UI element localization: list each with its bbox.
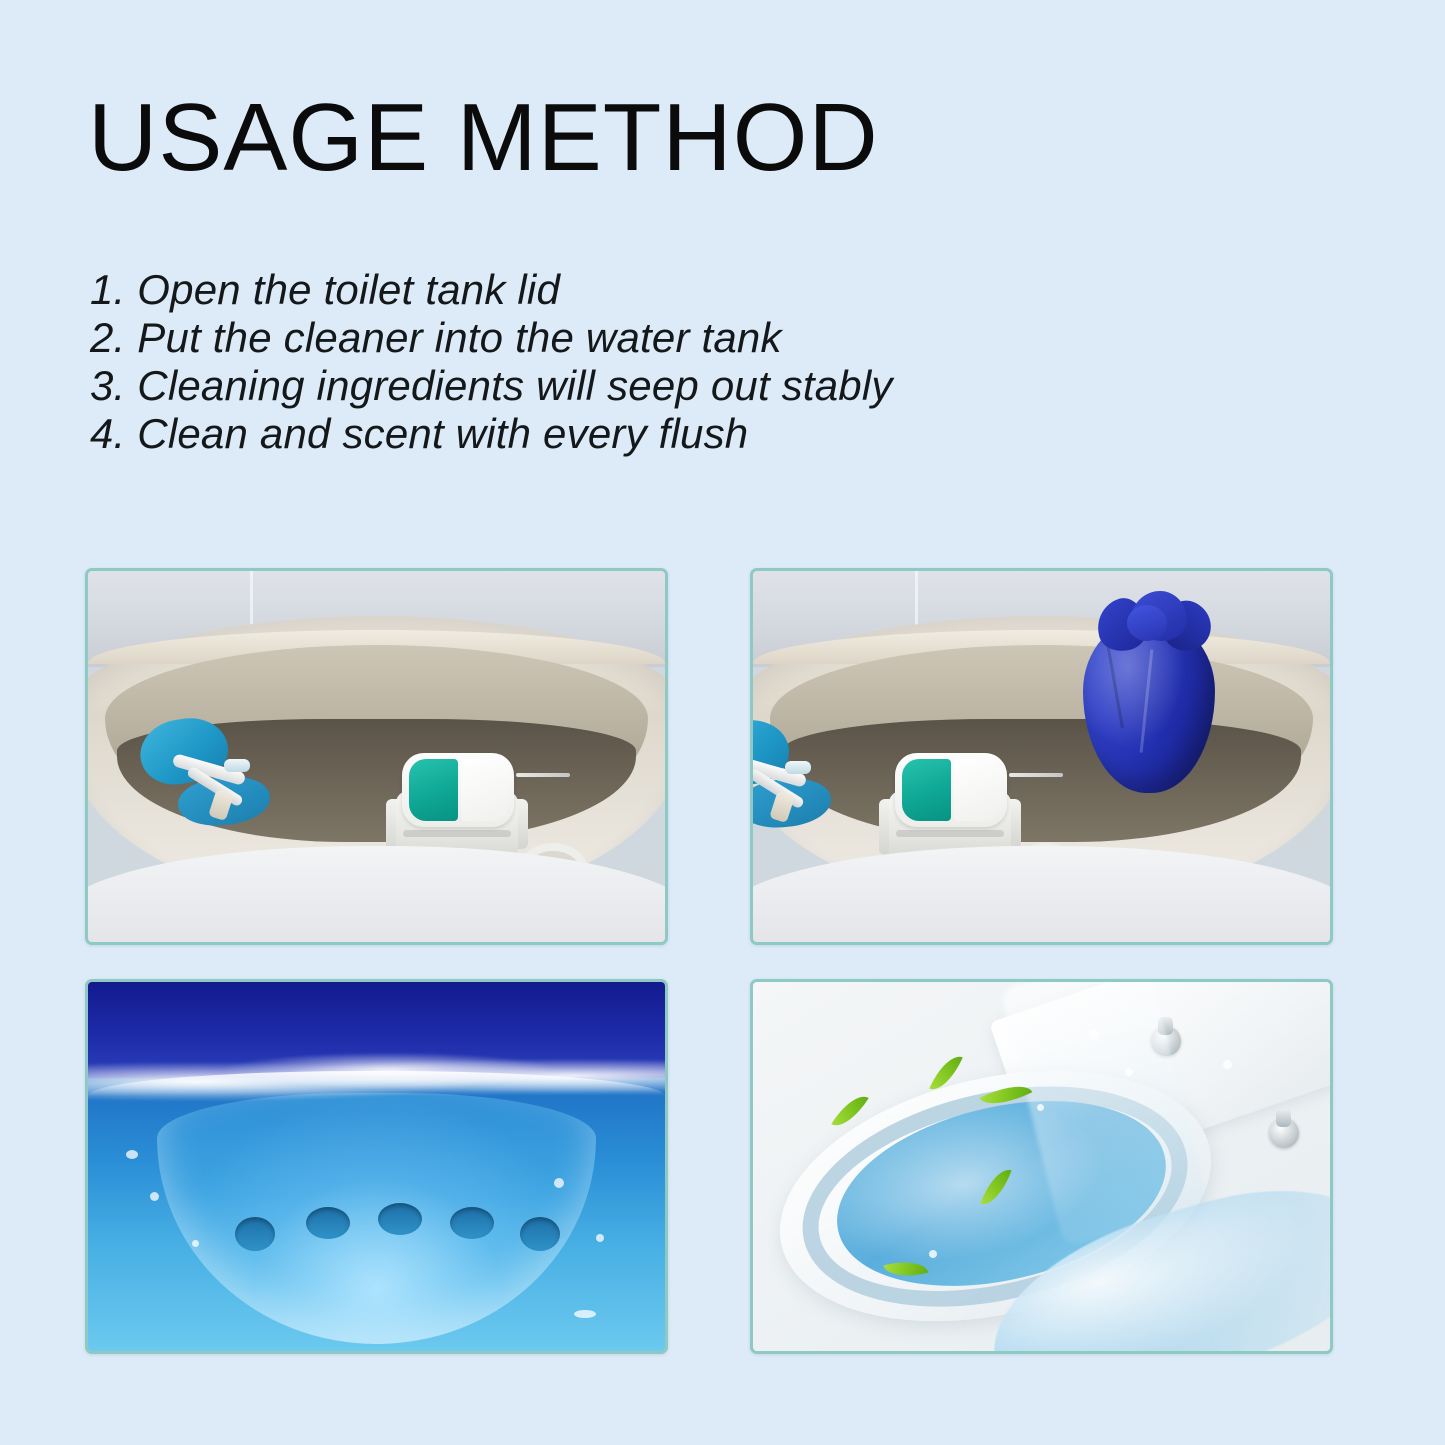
bubble (596, 1234, 604, 1242)
bubble (574, 1310, 596, 1318)
float-valve-nozzle (785, 761, 811, 774)
water-droplet (1223, 1060, 1232, 1069)
flush-button-white (954, 759, 1002, 821)
dispense-hole (450, 1207, 494, 1239)
list-item: 4. Clean and scent with every flush (90, 410, 1210, 458)
panel-flush-fresh (750, 979, 1333, 1354)
list-item: 1. Open the toilet tank lid (90, 266, 1210, 314)
dispense-hole (235, 1217, 275, 1251)
flush-button-teal (409, 759, 458, 821)
flush-button-teal (902, 759, 951, 821)
toilet-bowl-photo (753, 982, 1330, 1351)
usage-method-infographic: USAGE METHOD 1. Open the toilet tank lid… (0, 0, 1445, 1445)
panel-seep-out (85, 979, 668, 1354)
float-valve-nozzle (224, 759, 250, 772)
tank-photo-open (88, 571, 665, 942)
bubble (554, 1178, 564, 1188)
panel-open-tank (85, 568, 668, 945)
bubble (192, 1240, 199, 1247)
list-item: 3. Cleaning ingredients will seep out st… (90, 362, 1210, 410)
bubble (150, 1192, 159, 1201)
dispense-hole (378, 1203, 422, 1235)
water-droplet (1125, 1068, 1133, 1076)
water-droplet (1037, 1104, 1044, 1111)
tank-photo-with-cleaner (753, 571, 1330, 942)
panel-insert-cleaner (750, 568, 1333, 945)
page-title: USAGE METHOD (88, 86, 879, 190)
rose-petal-inner (1127, 605, 1167, 641)
list-item: 2. Put the cleaner into the water tank (90, 314, 1210, 362)
water-droplet (1089, 1030, 1099, 1040)
underwater-photo (88, 982, 665, 1351)
flush-valve-rod (1009, 773, 1063, 777)
water-surface-splash (85, 1048, 668, 1103)
water-droplet (929, 1250, 937, 1258)
hinge-bolt (1269, 1118, 1299, 1148)
dispense-hole (520, 1217, 560, 1251)
step-image-grid (85, 568, 1335, 1360)
usage-steps-list: 1. Open the toilet tank lid 2. Put the c… (90, 266, 1210, 458)
flush-button-white (461, 759, 509, 821)
bubble (126, 1150, 138, 1159)
flush-valve-rod (516, 773, 570, 777)
dispense-hole (306, 1207, 350, 1239)
